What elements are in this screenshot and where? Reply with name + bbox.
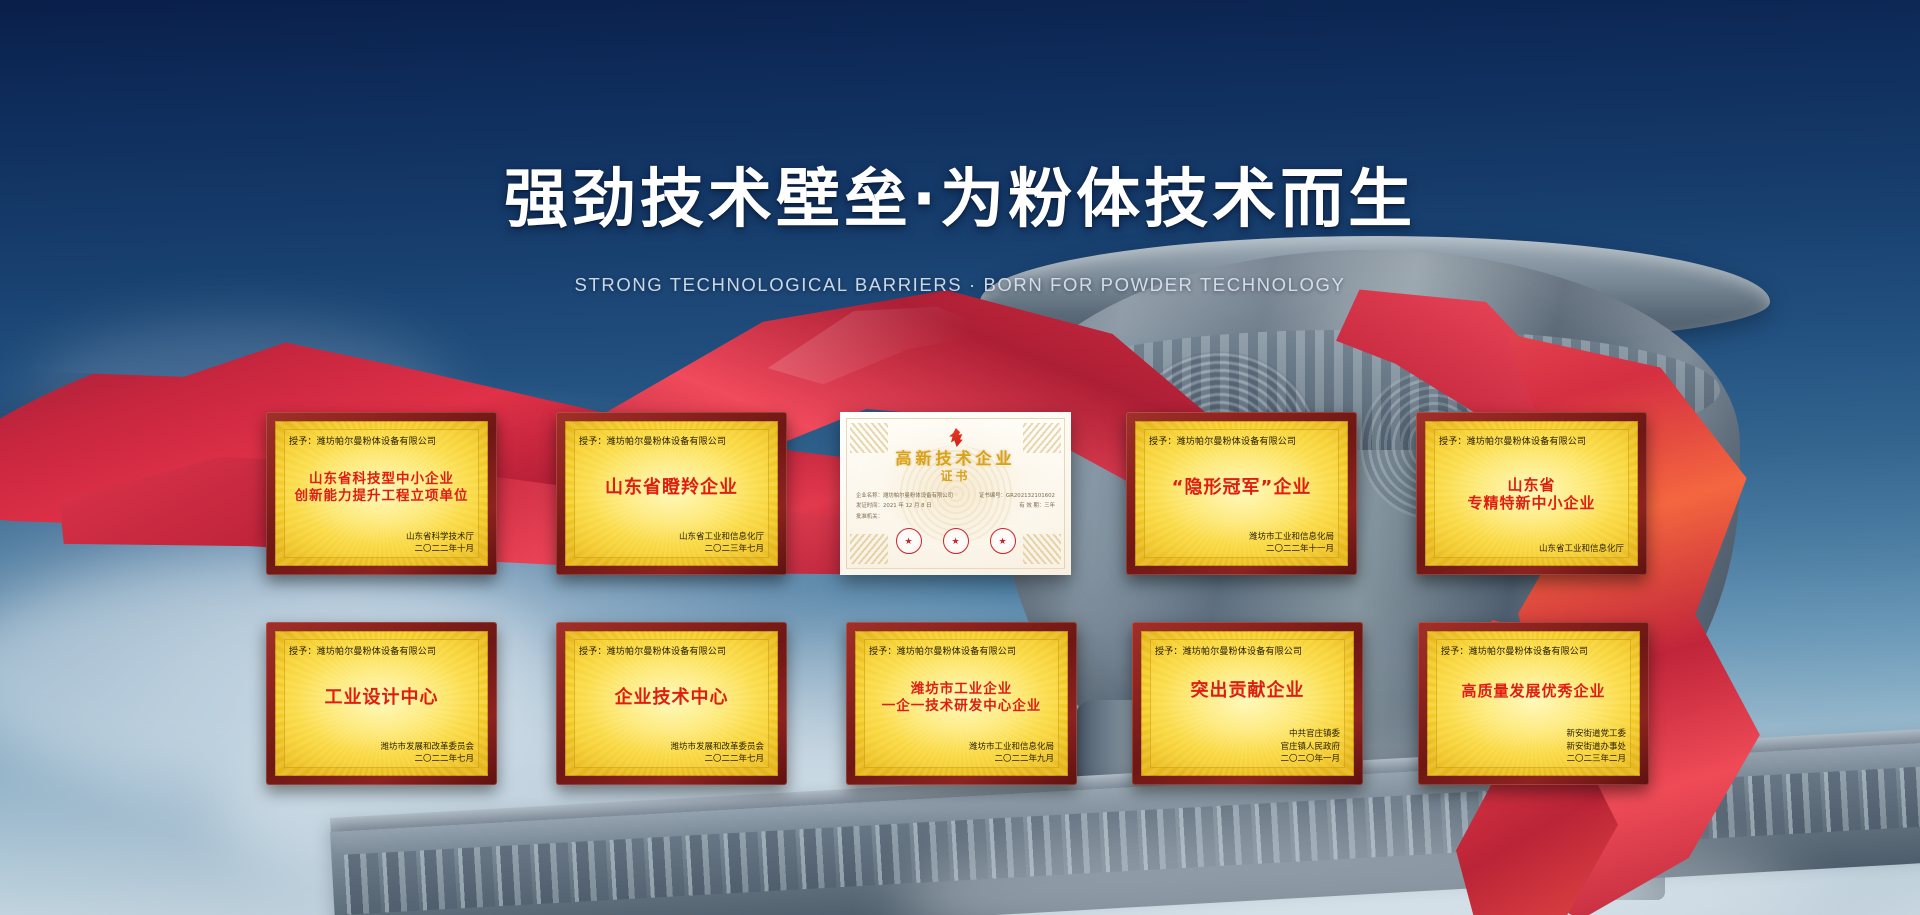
plaque-award-title-line: 突出贡献企业 xyxy=(1191,680,1305,702)
plaque-issuer-line: 潍坊市工业和信息化局 xyxy=(1149,531,1334,544)
plaque-issuer-line: 新安街道办事处 xyxy=(1441,741,1626,754)
plaque-issuer: 潍坊市发展和改革委员会二〇二二年七月 xyxy=(289,741,474,767)
awards-gallery: 授予：潍坊帕尔曼粉体设备有限公司山东省科技型中小企业创新能力提升工程立项单位山东… xyxy=(0,0,1920,915)
certificate-field: 证书编号：GR202132101602 xyxy=(979,491,1055,501)
plaque-issuer-line: 二〇二三年七月 xyxy=(579,543,764,556)
plaque-award-title: 企业技术中心 xyxy=(579,659,764,737)
plaque-award-title: 潍坊市工业企业一企一技术研发中心企业 xyxy=(869,659,1054,737)
certificate-title: 高新技术企业 xyxy=(847,445,1064,469)
plaque-issuer-line: 二〇二三年二月 xyxy=(1441,753,1626,766)
certificate-field-row: 批准机关： xyxy=(856,512,1055,522)
plaque-gold-panel: 授予：潍坊帕尔曼粉体设备有限公司工业设计中心潍坊市发展和改革委员会二〇二二年七月 xyxy=(275,631,488,776)
plaque-grantee-line: 授予：潍坊帕尔曼粉体设备有限公司 xyxy=(579,644,764,657)
plaque-gold-panel: 授予：潍坊帕尔曼粉体设备有限公司高质量发展优秀企业新安街道党工委新安街道办事处二… xyxy=(1427,631,1640,776)
plaque-gold-panel: 授予：潍坊帕尔曼粉体设备有限公司突出贡献企业中共官庄镇委官庄镇人民政府二〇二〇年… xyxy=(1141,631,1354,776)
plaque-award-title-line: 创新能力提升工程立项单位 xyxy=(295,488,469,504)
banner-stage: 强劲技术壁垒·为粉体技术而生 STRONG TECHNOLOGICAL BARR… xyxy=(0,0,1920,915)
certificate-subtitle: 证书 xyxy=(847,467,1064,484)
plaque-grantee-line: 授予：潍坊帕尔曼粉体设备有限公司 xyxy=(1439,434,1624,447)
plaque-content: 授予：潍坊帕尔曼粉体设备有限公司高质量发展优秀企业新安街道党工委新安街道办事处二… xyxy=(1427,631,1640,776)
plaque-issuer-line: 二〇二二年七月 xyxy=(579,753,764,766)
plaque-content: 授予：潍坊帕尔曼粉体设备有限公司潍坊市工业企业一企一技术研发中心企业潍坊市工业和… xyxy=(855,631,1068,776)
award-enterprise-tech-center[interactable]: 授予：潍坊帕尔曼粉体设备有限公司企业技术中心潍坊市发展和改革委员会二〇二二年七月 xyxy=(556,622,787,785)
award-shandong-sme-innovation[interactable]: 授予：潍坊帕尔曼粉体设备有限公司山东省科技型中小企业创新能力提升工程立项单位山东… xyxy=(266,412,497,575)
certificate-field-row: 发证时间：2021 年 12 月 8 日有 效 期：三年 xyxy=(856,501,1055,511)
certificate-field: 发证时间：2021 年 12 月 8 日 xyxy=(856,501,932,511)
certificate-seals xyxy=(847,528,1064,554)
award-shandong-specialized-sme[interactable]: 授予：潍坊帕尔曼粉体设备有限公司山东省专精特新中小企业山东省工业和信息化厅 xyxy=(1416,412,1647,575)
plaque-grantee-line: 授予：潍坊帕尔曼粉体设备有限公司 xyxy=(1155,644,1340,657)
plaque-issuer: 潍坊市工业和信息化局二〇二二年十一月 xyxy=(1149,531,1334,557)
plaque-content: 授予：潍坊帕尔曼粉体设备有限公司山东省瞪羚企业山东省工业和信息化厅二〇二三年七月 xyxy=(565,421,778,566)
plaque-issuer: 新安街道党工委新安街道办事处二〇二三年二月 xyxy=(1441,728,1626,766)
plaque-issuer-line: 二〇二二年十一月 xyxy=(1149,543,1334,556)
plaque-award-title: “隐形冠军”企业 xyxy=(1149,449,1334,527)
award-outstanding-contribution[interactable]: 授予：潍坊帕尔曼粉体设备有限公司突出贡献企业中共官庄镇委官庄镇人民政府二〇二〇年… xyxy=(1132,622,1363,785)
plaque-award-title: 山东省瞪羚企业 xyxy=(579,449,764,527)
certificate-body: 高新技术企业证书企业名称：潍坊帕尔曼粉体设备有限公司证书编号：GR2021321… xyxy=(846,418,1065,569)
certificate-high-tech-enterprise[interactable]: 高新技术企业证书企业名称：潍坊帕尔曼粉体设备有限公司证书编号：GR2021321… xyxy=(840,412,1071,575)
plaque-content: 授予：潍坊帕尔曼粉体设备有限公司山东省科技型中小企业创新能力提升工程立项单位山东… xyxy=(275,421,488,566)
certificate-field-row: 企业名称：潍坊帕尔曼粉体设备有限公司证书编号：GR202132101602 xyxy=(856,491,1055,501)
certificate-field: 企业名称：潍坊帕尔曼粉体设备有限公司 xyxy=(856,491,953,501)
plaque-issuer-line: 二〇二二年九月 xyxy=(869,753,1054,766)
plaque-award-title-line: “隐形冠军”企业 xyxy=(1172,477,1312,499)
certificate-field: 有 效 期：三年 xyxy=(1019,501,1055,511)
award-industrial-design-center[interactable]: 授予：潍坊帕尔曼粉体设备有限公司工业设计中心潍坊市发展和改革委员会二〇二二年七月 xyxy=(266,622,497,785)
plaque-award-title-line: 潍坊市工业企业 xyxy=(911,681,1013,697)
award-hidden-champion[interactable]: 授予：潍坊帕尔曼粉体设备有限公司“隐形冠军”企业潍坊市工业和信息化局二〇二二年十… xyxy=(1126,412,1357,575)
plaque-content: 授予：潍坊帕尔曼粉体设备有限公司山东省专精特新中小企业山东省工业和信息化厅 xyxy=(1425,421,1638,566)
official-seal-icon xyxy=(943,528,969,554)
plaque-issuer: 山东省工业和信息化厅 xyxy=(1439,543,1624,556)
plaque-grantee-line: 授予：潍坊帕尔曼粉体设备有限公司 xyxy=(1441,644,1626,657)
plaque-award-title-line: 企业技术中心 xyxy=(615,687,729,709)
plaque-grantee-line: 授予：潍坊帕尔曼粉体设备有限公司 xyxy=(579,434,764,447)
plaque-issuer-line: 二〇二二年十月 xyxy=(289,543,474,556)
plaque-award-title-line: 山东省 xyxy=(1507,476,1555,494)
plaque-content: 授予：潍坊帕尔曼粉体设备有限公司企业技术中心潍坊市发展和改革委员会二〇二二年七月 xyxy=(565,631,778,776)
award-weifang-rnd-center[interactable]: 授予：潍坊帕尔曼粉体设备有限公司潍坊市工业企业一企一技术研发中心企业潍坊市工业和… xyxy=(846,622,1077,785)
official-seal-icon xyxy=(896,528,922,554)
plaque-gold-panel: 授予：潍坊帕尔曼粉体设备有限公司山东省科技型中小企业创新能力提升工程立项单位山东… xyxy=(275,421,488,566)
plaque-issuer-line: 山东省工业和信息化厅 xyxy=(579,531,764,544)
plaque-grantee-line: 授予：潍坊帕尔曼粉体设备有限公司 xyxy=(1149,434,1334,447)
plaque-grantee-line: 授予：潍坊帕尔曼粉体设备有限公司 xyxy=(289,644,474,657)
certificate-fields: 企业名称：潍坊帕尔曼粉体设备有限公司证书编号：GR202132101602发证时… xyxy=(856,491,1055,522)
plaque-issuer-line: 潍坊市发展和改革委员会 xyxy=(579,741,764,754)
plaque-content: 授予：潍坊帕尔曼粉体设备有限公司工业设计中心潍坊市发展和改革委员会二〇二二年七月 xyxy=(275,631,488,776)
plaque-gold-panel: 授予：潍坊帕尔曼粉体设备有限公司潍坊市工业企业一企一技术研发中心企业潍坊市工业和… xyxy=(855,631,1068,776)
plaque-issuer-line: 新安街道党工委 xyxy=(1441,728,1626,741)
plaque-gold-panel: 授予：潍坊帕尔曼粉体设备有限公司“隐形冠军”企业潍坊市工业和信息化局二〇二二年十… xyxy=(1135,421,1348,566)
plaque-issuer: 潍坊市工业和信息化局二〇二二年九月 xyxy=(869,741,1054,767)
award-high-quality-development[interactable]: 授予：潍坊帕尔曼粉体设备有限公司高质量发展优秀企业新安街道党工委新安街道办事处二… xyxy=(1418,622,1649,785)
plaque-award-title: 工业设计中心 xyxy=(289,659,474,737)
plaque-gold-panel: 授予：潍坊帕尔曼粉体设备有限公司山东省专精特新中小企业山东省工业和信息化厅 xyxy=(1425,421,1638,566)
plaque-award-title-line: 工业设计中心 xyxy=(325,687,439,709)
plaque-issuer-line: 官庄镇人民政府 xyxy=(1155,741,1340,754)
plaque-issuer-line: 潍坊市发展和改革委员会 xyxy=(289,741,474,754)
plaque-award-title: 高质量发展优秀企业 xyxy=(1441,659,1626,724)
plaque-issuer-line: 山东省工业和信息化厅 xyxy=(1439,543,1624,556)
official-seal-icon xyxy=(990,528,1016,554)
plaque-award-title-line: 一企一技术研发中心企业 xyxy=(882,698,1042,714)
plaque-content: 授予：潍坊帕尔曼粉体设备有限公司突出贡献企业中共官庄镇委官庄镇人民政府二〇二〇年… xyxy=(1141,631,1354,776)
plaque-issuer: 山东省工业和信息化厅二〇二三年七月 xyxy=(579,531,764,557)
plaque-issuer-line: 山东省科学技术厅 xyxy=(289,531,474,544)
plaque-award-title-line: 山东省瞪羚企业 xyxy=(605,477,738,499)
plaque-issuer-line: 二〇二二年七月 xyxy=(289,753,474,766)
plaque-content: 授予：潍坊帕尔曼粉体设备有限公司“隐形冠军”企业潍坊市工业和信息化局二〇二二年十… xyxy=(1135,421,1348,566)
certificate-field: 批准机关： xyxy=(856,512,883,522)
plaque-grantee-line: 授予：潍坊帕尔曼粉体设备有限公司 xyxy=(869,644,1054,657)
award-shandong-gazelle[interactable]: 授予：潍坊帕尔曼粉体设备有限公司山东省瞪羚企业山东省工业和信息化厅二〇二三年七月 xyxy=(556,412,787,575)
plaque-issuer: 中共官庄镇委官庄镇人民政府二〇二〇年一月 xyxy=(1155,728,1340,766)
plaque-gold-panel: 授予：潍坊帕尔曼粉体设备有限公司企业技术中心潍坊市发展和改革委员会二〇二二年七月 xyxy=(565,631,778,776)
plaque-award-title: 山东省专精特新中小企业 xyxy=(1439,449,1624,539)
plaque-issuer-line: 中共官庄镇委 xyxy=(1155,728,1340,741)
plaque-award-title: 突出贡献企业 xyxy=(1155,659,1340,724)
plaque-award-title-line: 高质量发展优秀企业 xyxy=(1461,682,1605,700)
plaque-gold-panel: 授予：潍坊帕尔曼粉体设备有限公司山东省瞪羚企业山东省工业和信息化厅二〇二三年七月 xyxy=(565,421,778,566)
plaque-award-title: 山东省科技型中小企业创新能力提升工程立项单位 xyxy=(289,449,474,527)
plaque-issuer-line: 潍坊市工业和信息化局 xyxy=(869,741,1054,754)
plaque-grantee-line: 授予：潍坊帕尔曼粉体设备有限公司 xyxy=(289,434,474,447)
plaque-issuer-line: 二〇二〇年一月 xyxy=(1155,753,1340,766)
plaque-issuer: 潍坊市发展和改革委员会二〇二二年七月 xyxy=(579,741,764,767)
plaque-issuer: 山东省科学技术厅二〇二二年十月 xyxy=(289,531,474,557)
plaque-award-title-line: 专精特新中小企业 xyxy=(1467,494,1595,512)
plaque-award-title-line: 山东省科技型中小企业 xyxy=(309,471,454,487)
